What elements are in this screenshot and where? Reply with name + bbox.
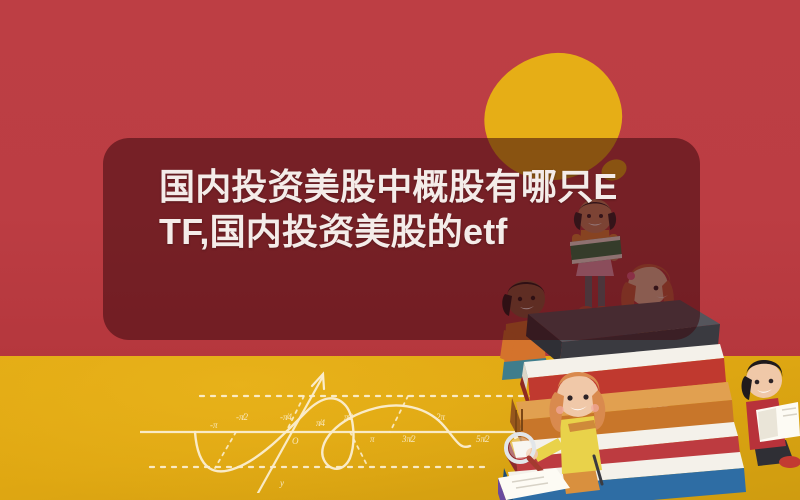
article-cover-banner: -π -π̸2 -π̸4 O π̸4 π̸2 π 3π̸2 2π 5π̸2 y [0,0,800,500]
svg-text:π̸2: π̸2 [344,412,354,422]
svg-text:y: y [279,478,284,488]
page-title: 国内投资美股中概股有哪只ETF,国内投资美股的etf [159,164,629,254]
svg-text:-π̸4: -π̸4 [280,412,293,422]
svg-text:π: π [370,434,375,444]
svg-text:O: O [292,436,299,446]
child-right-red-shirt [742,360,800,468]
svg-text:-π: -π [210,420,218,430]
svg-text:-π̸2: -π̸2 [236,412,249,422]
svg-text:2π: 2π [436,412,446,422]
svg-text:π̸4: π̸4 [316,418,326,428]
trigonometric-curve-graph-icon: -π -π̸2 -π̸4 O π̸4 π̸2 π 3π̸2 2π 5π̸2 y [140,368,540,493]
svg-text:3π̸2: 3π̸2 [401,434,416,444]
svg-text:5π̸2: 5π̸2 [476,434,490,444]
title-overlay-card: 国内投资美股中概股有哪只ETF,国内投资美股的etf [103,138,700,340]
